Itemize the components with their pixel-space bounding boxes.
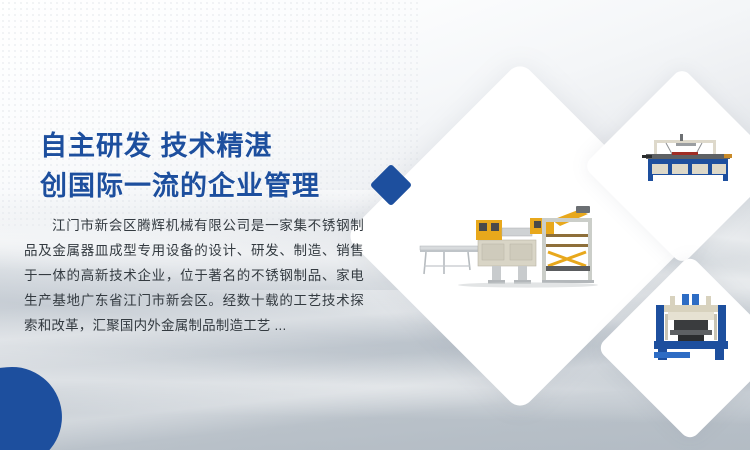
- blue-corner-blob: [0, 362, 67, 450]
- company-intro-paragraph: 江门市新会区腾辉机械有限公司是一家集不锈钢制品及金属器皿成型专用设备的设计、研发…: [24, 213, 364, 338]
- headline-line-1: 自主研发 技术精湛: [40, 126, 320, 166]
- production-line-machine-photo: [418, 196, 618, 288]
- page-title: 自主研发 技术精湛 创国际一流的企业管理: [40, 126, 320, 206]
- company-intro-banner: 自主研发 技术精湛 创国际一流的企业管理 江门市新会区腾辉机械有限公司是一家集不…: [0, 0, 750, 450]
- blue-hydraulic-press-machine-photo: [648, 294, 734, 360]
- blue-frame-forming-machine-photo: [636, 132, 740, 184]
- headline-line-2: 创国际一流的企业管理: [40, 166, 320, 206]
